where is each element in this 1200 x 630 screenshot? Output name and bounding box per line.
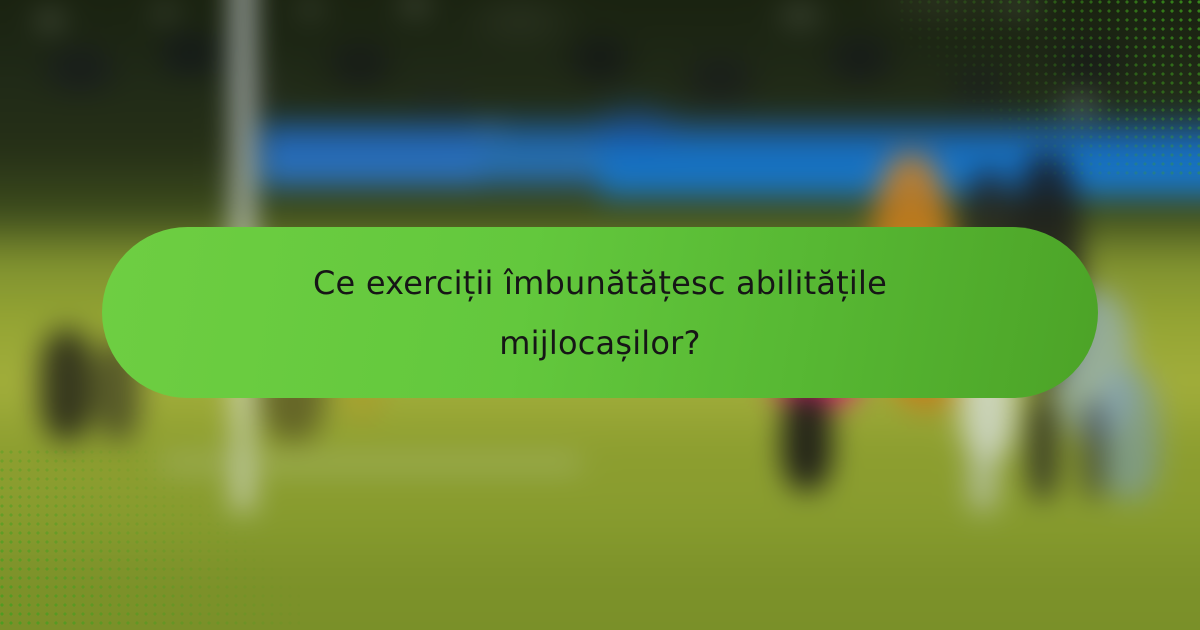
question-text: Ce exerciții îmbunătățesc abilitățile mi… <box>222 253 978 373</box>
player-figure <box>40 330 94 440</box>
player-figure <box>782 390 832 490</box>
question-pill: Ce exerciții îmbunătățesc abilitățile mi… <box>102 227 1098 398</box>
player-figure <box>1028 390 1058 500</box>
social-card-canvas: Ce exerciții îmbunătățesc abilitățile mi… <box>0 0 1200 630</box>
player-figure <box>970 450 996 512</box>
player-figure <box>1100 370 1160 500</box>
player-figure <box>1080 400 1106 500</box>
